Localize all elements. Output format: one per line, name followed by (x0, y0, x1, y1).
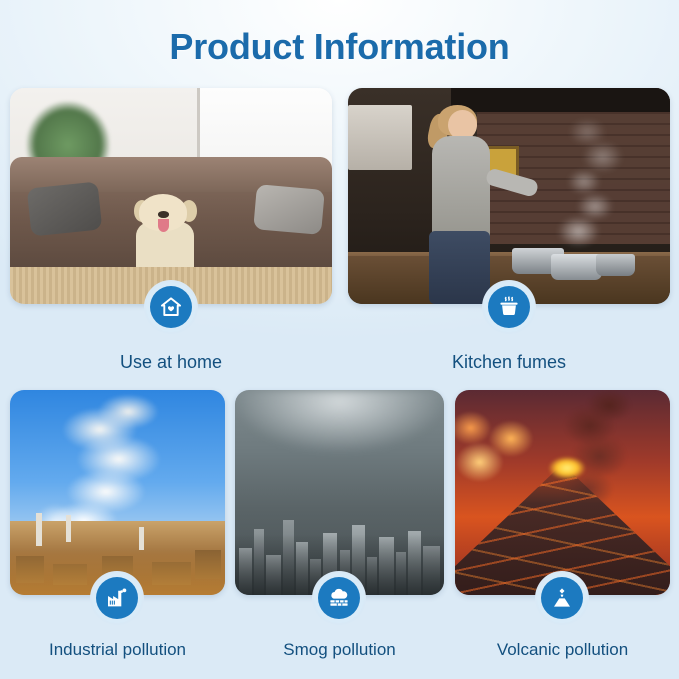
photo-volcanic-pollution (455, 390, 670, 595)
photo-use-at-home (10, 88, 332, 304)
house-heart-icon (150, 286, 192, 328)
caption-kitchen-fumes: Kitchen fumes (348, 352, 670, 373)
caption-use-at-home: Use at home (10, 352, 332, 373)
volcano-icon (541, 577, 583, 619)
smog-cloud-city-icon (318, 577, 360, 619)
product-information-page: Product Information (0, 0, 679, 679)
caption-volcanic-pollution: Volcanic pollution (443, 640, 679, 660)
photo-industrial-pollution (10, 390, 225, 595)
photo-kitchen-fumes (348, 88, 670, 304)
photo-smog-pollution (235, 390, 444, 595)
page-title: Product Information (0, 26, 679, 68)
cooking-pot-steam-icon (488, 286, 530, 328)
factory-icon (96, 577, 138, 619)
caption-industrial-pollution: Industrial pollution (0, 640, 235, 660)
caption-smog-pollution: Smog pollution (220, 640, 459, 660)
